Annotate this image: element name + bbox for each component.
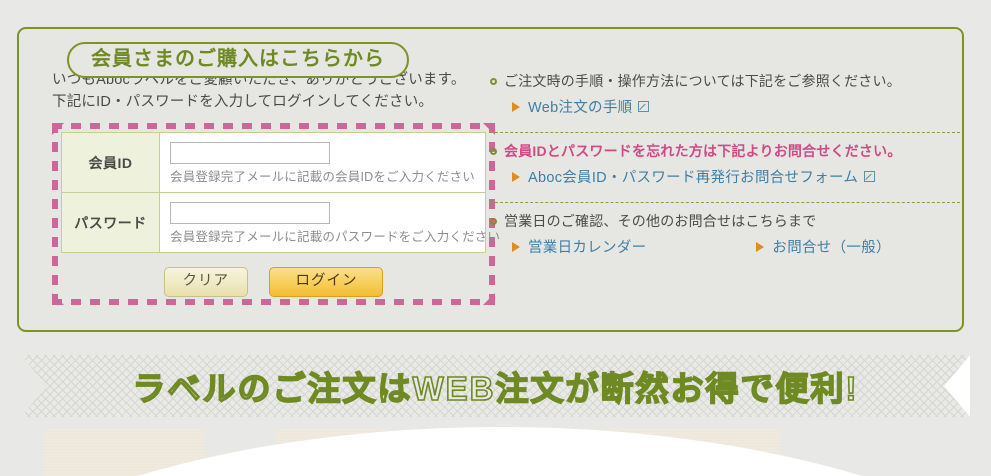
member-id-input[interactable] xyxy=(170,142,330,164)
password-cell: 会員登録完了メールに記載のパスワードをご入力ください xyxy=(160,193,486,253)
info-block-order-guide: ご注文時の手順・操作方法については下記をご参照ください。 Web注文の手順 xyxy=(490,71,960,123)
info-heading-text: 会員IDとパスワードを忘れた方は下記よりお問合せください。 xyxy=(504,141,902,162)
info-block-business-days: 営業日のご確認、その他のお問合せはこちらまで 営業日カレンダー お問合せ（一般） xyxy=(490,211,960,263)
intro-line-2: 下記にID・パスワードを入力してログインしてください。 xyxy=(52,91,497,113)
triangle-bullet-icon xyxy=(512,172,520,182)
password-label: パスワード xyxy=(62,193,160,253)
triangle-bullet-icon xyxy=(512,102,520,112)
member-id-cell: 会員登録完了メールに記載の会員IDをご入力ください xyxy=(160,133,486,193)
info-block-forgot-credentials: 会員IDとパスワードを忘れた方は下記よりお問合せください。 Aboc会員ID・パ… xyxy=(490,141,960,193)
info-links-column: ご注文時の手順・操作方法については下記をご参照ください。 Web注文の手順 会員… xyxy=(490,71,960,263)
divider-1 xyxy=(490,132,960,133)
password-input[interactable] xyxy=(170,202,330,224)
circle-bullet-icon xyxy=(490,78,497,85)
corner-triangle-bottom-right xyxy=(483,293,495,305)
link-web-order-guide[interactable]: Web注文の手順 xyxy=(512,96,649,117)
link-label[interactable]: Aboc会員ID・パスワード再発行お問合せフォーム xyxy=(528,166,858,187)
info-heading: 会員IDとパスワードを忘れた方は下記よりお問合せください。 xyxy=(490,141,960,162)
link-label[interactable]: 営業日カレンダー xyxy=(528,236,646,257)
triangle-bullet-icon xyxy=(756,242,764,252)
login-button[interactable]: ログイン xyxy=(269,267,383,297)
info-heading: 営業日のご確認、その他のお問合せはこちらまで xyxy=(490,211,960,232)
triangle-bullet-icon xyxy=(512,242,520,252)
link-reissue-form[interactable]: Aboc会員ID・パスワード再発行お問合せフォーム xyxy=(512,166,875,187)
link-general-inquiry[interactable]: お問合せ（一般） xyxy=(756,236,890,257)
corner-triangle-bottom-left xyxy=(52,293,64,305)
member-id-label: 会員ID xyxy=(62,133,160,193)
member-id-hint: 会員登録完了メールに記載の会員IDをご入力ください xyxy=(170,170,475,184)
info-heading-text: ご注文時の手順・操作方法については下記をご参照ください。 xyxy=(504,71,901,92)
promo-ribbon-banner: ラベルのご注文はWEB注文が断然お得で便利! xyxy=(21,355,970,417)
info-link-row: Aboc会員ID・パスワード再発行お問合せフォーム xyxy=(490,166,960,187)
circle-bullet-icon xyxy=(490,218,497,225)
page-background: 会員さまのご購入はこちらから いつもAbocラベルをご愛顧いただき、ありがとうご… xyxy=(0,0,991,476)
divider-2 xyxy=(490,202,960,203)
form-button-row: クリア ログイン xyxy=(61,253,486,297)
credentials-table: 会員ID 会員登録完了メールに記載の会員IDをご入力ください パスワード 会員登… xyxy=(61,132,486,253)
info-heading-text: 営業日のご確認、その他のお問合せはこちらまで xyxy=(504,211,816,232)
external-link-icon xyxy=(638,101,649,112)
login-form-column: いつもAbocラベルをご愛顧いただき、ありがとうございます。 下記にID・パスワ… xyxy=(52,69,497,305)
info-link-row: 営業日カレンダー お問合せ（一般） xyxy=(490,236,960,257)
product-cards-area: オーダー製品 xyxy=(0,417,991,476)
corner-triangle-top-left xyxy=(52,123,64,135)
link-label[interactable]: Web注文の手順 xyxy=(528,96,632,117)
table-row-member-id: 会員ID 会員登録完了メールに記載の会員IDをご入力ください xyxy=(62,133,486,193)
login-form-frame: 会員ID 会員登録完了メールに記載の会員IDをご入力ください パスワード 会員登… xyxy=(52,123,495,305)
link-business-calendar[interactable]: 営業日カレンダー xyxy=(512,236,646,257)
info-link-row: Web注文の手順 xyxy=(490,96,960,117)
clear-button[interactable]: クリア xyxy=(164,267,249,297)
table-row-password: パスワード 会員登録完了メールに記載のパスワードをご入力ください xyxy=(62,193,486,253)
info-heading: ご注文時の手順・操作方法については下記をご参照ください。 xyxy=(490,71,960,92)
ribbon-text: ラベルのご注文はWEB注文が断然お得で便利! xyxy=(133,362,859,410)
link-label[interactable]: お問合せ（一般） xyxy=(772,236,890,257)
page-title: 会員さまのご購入はこちらから xyxy=(67,42,409,78)
member-login-panel: 会員さまのご購入はこちらから いつもAbocラベルをご愛顧いただき、ありがとうご… xyxy=(17,27,964,332)
external-link-icon xyxy=(864,171,875,182)
circle-bullet-icon xyxy=(490,148,497,155)
password-hint: 会員登録完了メールに記載のパスワードをご入力ください xyxy=(170,230,475,244)
